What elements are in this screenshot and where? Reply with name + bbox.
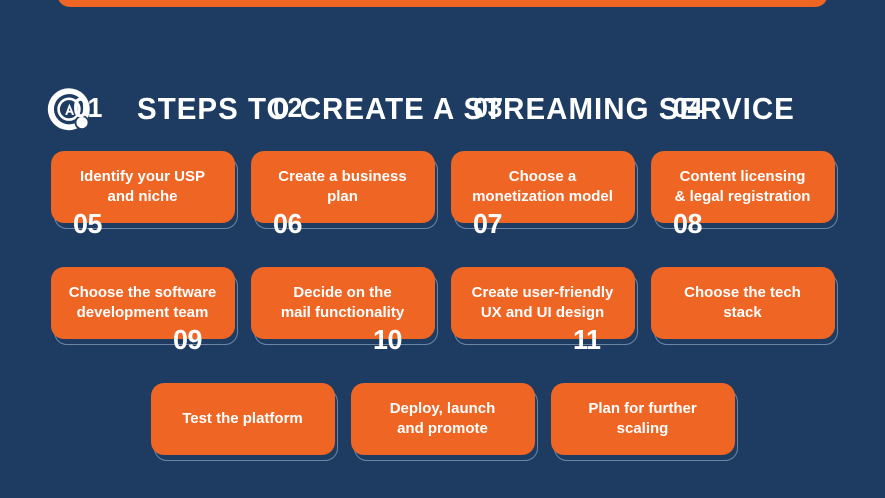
infographic-root: STEPS TO CREATE A STREAMING SERVICE 01 I… [0,0,885,498]
steps-row-3: 09 Test the platform 10 Deploy, launch a… [0,354,885,455]
card-body[interactable]: Create user-friendly UX and UI design [451,267,635,339]
card-body[interactable]: Choose the software development team [51,267,235,339]
steps-row-2: 05 Choose the software development team … [0,238,885,339]
step-number: 08 [673,209,702,239]
step-label: Create user-friendly UX and UI design [472,283,614,323]
step-number: 10 [373,325,402,355]
step-label: Choose a monetization model [472,167,613,207]
step-card-10[interactable]: 10 Deploy, launch and promote [351,354,535,455]
header: STEPS TO CREATE A STREAMING SERVICE [0,40,885,102]
step-number: 01 [73,93,102,123]
top-accent-bar [57,0,828,7]
card-body[interactable]: Test the platform [151,383,335,455]
step-card-08[interactable]: 08 Choose the tech stack [651,238,835,339]
step-label: Choose the software development team [69,283,217,323]
step-card-11[interactable]: 11 Plan for further scaling [551,354,735,455]
step-number: 09 [173,325,202,355]
step-label: Create a business plan [278,167,406,207]
step-number: 11 [573,325,600,355]
step-label: Content licensing & legal registration [675,167,811,207]
step-label: Choose the tech stack [684,283,801,323]
steps-row-1: 01 Identify your USP and niche 02 Create… [0,122,885,223]
step-card-07[interactable]: 07 Create user-friendly UX and UI design [451,238,635,339]
card-body[interactable]: Choose the tech stack [651,267,835,339]
step-card-05[interactable]: 05 Choose the software development team [51,238,235,339]
step-card-09[interactable]: 09 Test the platform [151,354,335,455]
step-label: Plan for further scaling [588,399,696,439]
step-label: Identify your USP and niche [80,167,205,207]
step-label: Deploy, launch and promote [390,399,496,439]
card-body[interactable]: Plan for further scaling [551,383,735,455]
step-number: 07 [473,209,502,239]
step-label: Decide on the mail functionality [281,283,404,323]
step-number: 06 [273,209,302,239]
steps-grid: 01 Identify your USP and niche 02 Create… [0,122,885,470]
step-number: 03 [473,93,502,123]
step-label: Test the platform [182,409,303,429]
step-number: 05 [73,209,102,239]
step-number: 02 [273,93,302,123]
step-card-06[interactable]: 06 Decide on the mail functionality [251,238,435,339]
step-number: 04 [673,93,702,123]
card-body[interactable]: Decide on the mail functionality [251,267,435,339]
card-body[interactable]: Deploy, launch and promote [351,383,535,455]
